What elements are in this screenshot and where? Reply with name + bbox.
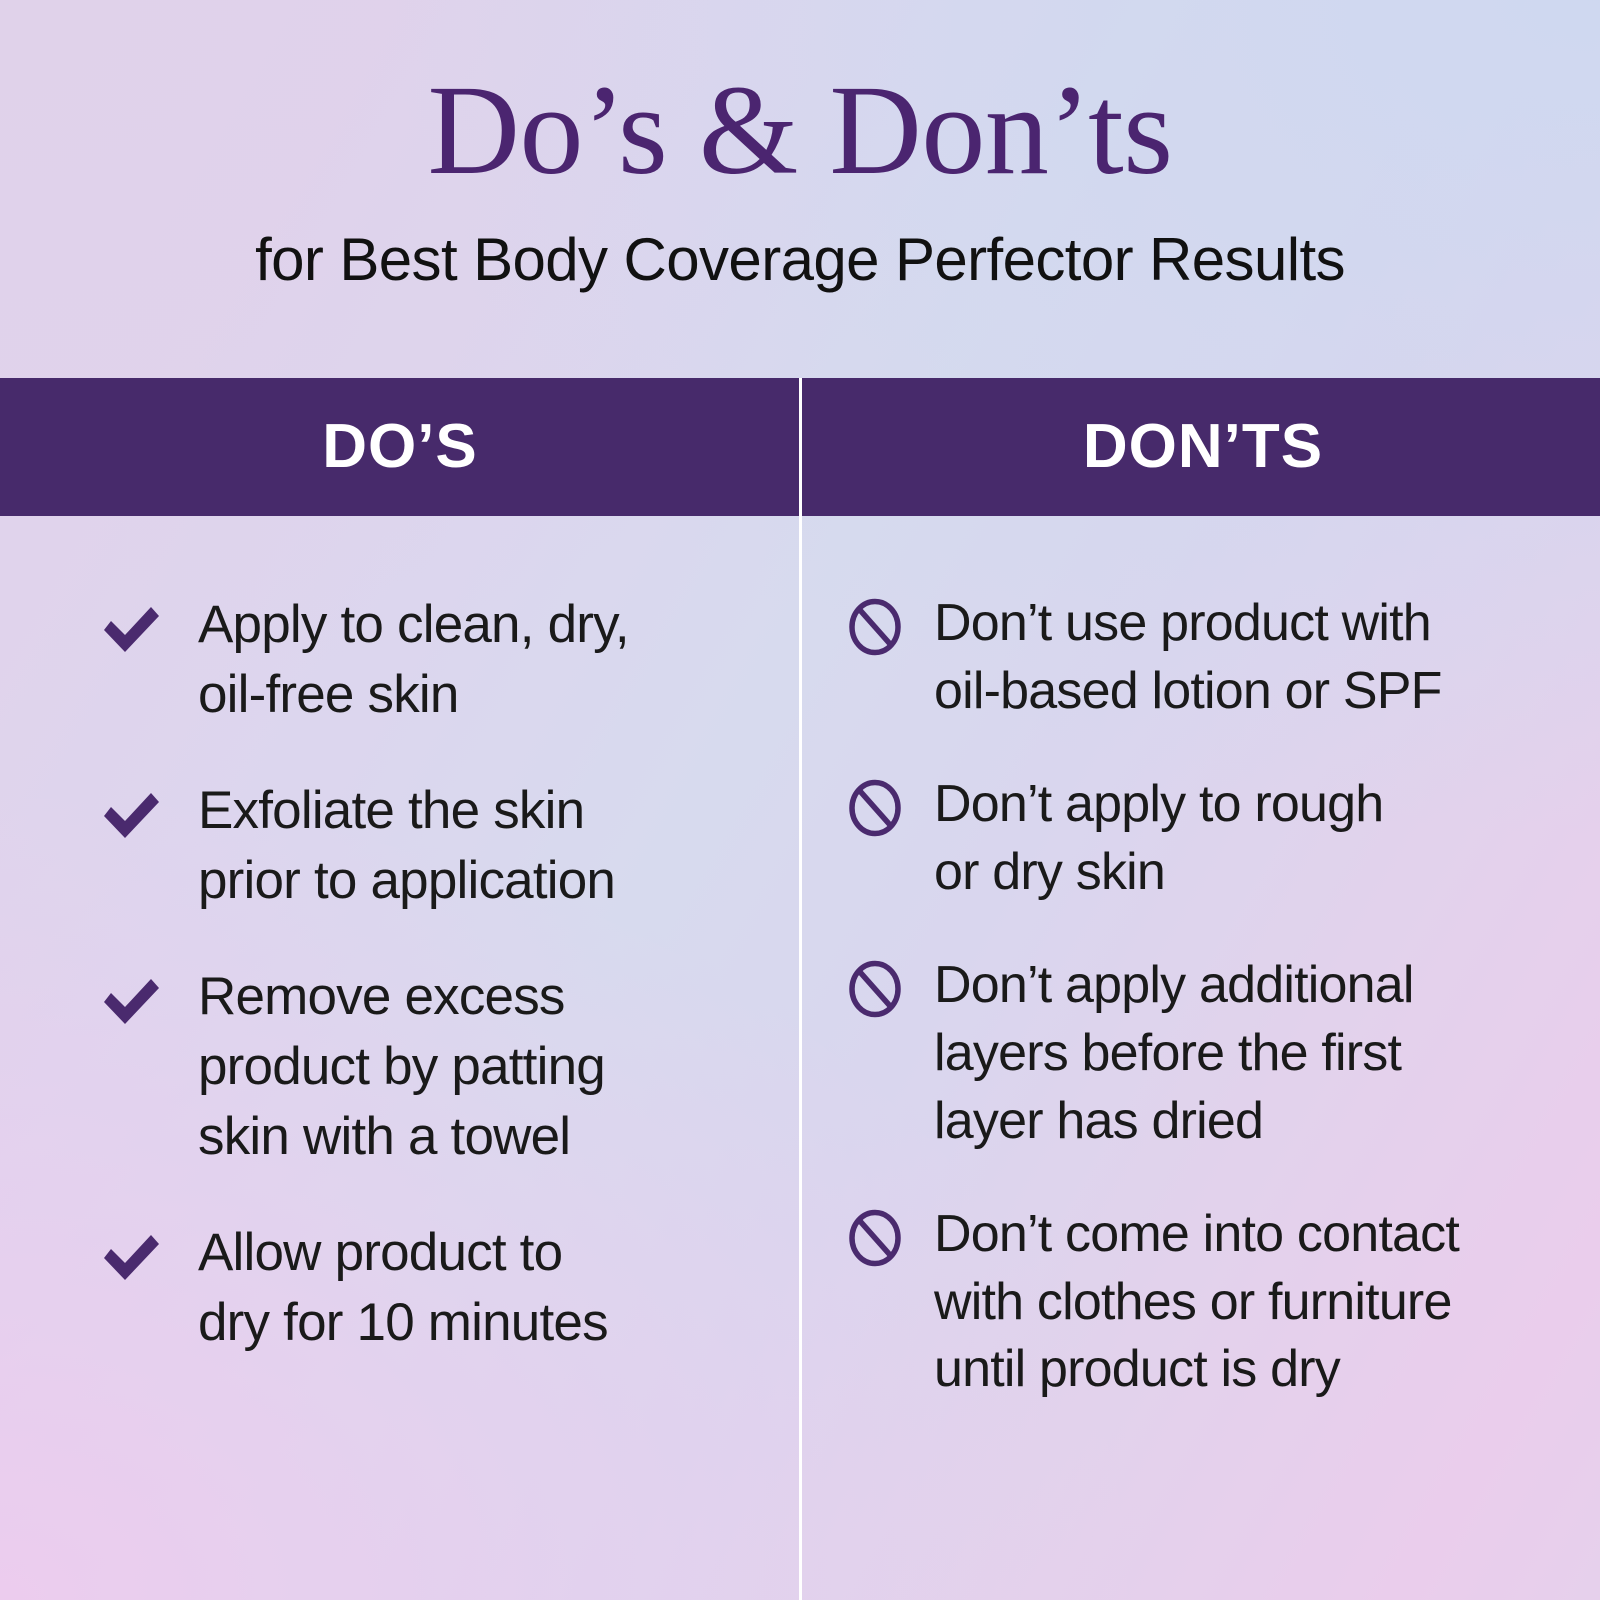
prohibition-icon <box>846 598 904 656</box>
list-item-line: Apply to clean, dry, <box>198 590 629 660</box>
list-item-line: prior to application <box>198 846 615 916</box>
list-item-line: with clothes or furniture <box>934 1269 1459 1337</box>
list-item-line: oil-based lotion or SPF <box>934 658 1442 726</box>
donts-header-cell: DON’TS <box>800 378 1600 516</box>
check-icon <box>100 1228 162 1286</box>
list-item-line: or dry skin <box>934 839 1383 907</box>
list-item-line: skin with a towel <box>198 1102 605 1172</box>
prohibition-icon <box>846 1209 904 1267</box>
dos-and-donts-infographic: Do’s & Don’ts for Best Body Coverage Per… <box>0 0 1600 1600</box>
check-icon <box>100 600 162 658</box>
donts-header-label: DON’TS <box>1083 416 1323 478</box>
list-item-text: Allow product todry for 10 minutes <box>198 1218 608 1358</box>
list-item-line: oil-free skin <box>198 660 629 730</box>
list-item-line: Don’t use product with <box>934 590 1442 658</box>
dos-header-cell: DO’S <box>0 378 800 516</box>
page-subtitle: for Best Body Coverage Perfector Results <box>0 194 1600 291</box>
list-item-line: product by patting <box>198 1032 605 1102</box>
check-icon <box>100 972 162 1030</box>
list-item-text: Remove excessproduct by pattingskin with… <box>198 962 605 1172</box>
list-item-line: Don’t apply additional <box>934 952 1414 1020</box>
list-item-line: dry for 10 minutes <box>198 1288 608 1358</box>
list-item: Allow product todry for 10 minutes <box>100 1218 730 1358</box>
list-item-text: Exfoliate the skinprior to application <box>198 776 615 916</box>
list-item: Apply to clean, dry,oil-free skin <box>100 590 730 730</box>
check-icon <box>100 786 162 844</box>
list-item-line: Allow product to <box>198 1218 608 1288</box>
page-title: Do’s & Don’ts <box>0 0 1600 194</box>
dos-header-label: DO’S <box>322 416 478 478</box>
list-item-line: Remove excess <box>198 962 605 1032</box>
title-block: Do’s & Don’ts for Best Body Coverage Per… <box>0 0 1600 291</box>
list-item: Exfoliate the skinprior to application <box>100 776 730 916</box>
list-item-line: until product is dry <box>934 1336 1459 1404</box>
prohibition-icon <box>846 960 904 1018</box>
list-item-line: layer has dried <box>934 1088 1414 1156</box>
list-item-text: Don’t come into contactwith clothes or f… <box>934 1201 1459 1404</box>
columns-container: Apply to clean, dry,oil-free skinExfolia… <box>0 516 1600 1600</box>
list-item-line: layers before the first <box>934 1020 1414 1088</box>
list-item-text: Don’t use product withoil-based lotion o… <box>934 590 1442 725</box>
list-item-text: Don’t apply to roughor dry skin <box>934 771 1383 906</box>
dos-column: Apply to clean, dry,oil-free skinExfolia… <box>0 516 800 1600</box>
list-item: Don’t apply additionallayers before the … <box>846 952 1574 1155</box>
list-item: Don’t come into contactwith clothes or f… <box>846 1201 1574 1404</box>
donts-column: Don’t use product withoil-based lotion o… <box>800 516 1600 1600</box>
list-item-line: Don’t apply to rough <box>934 771 1383 839</box>
list-item: Remove excessproduct by pattingskin with… <box>100 962 730 1172</box>
list-item-line: Don’t come into contact <box>934 1201 1459 1269</box>
list-item: Don’t apply to roughor dry skin <box>846 771 1574 906</box>
list-item-line: Exfoliate the skin <box>198 776 615 846</box>
list-item-text: Apply to clean, dry,oil-free skin <box>198 590 629 730</box>
list-item-text: Don’t apply additionallayers before the … <box>934 952 1414 1155</box>
prohibition-icon <box>846 779 904 837</box>
list-item: Don’t use product withoil-based lotion o… <box>846 590 1574 725</box>
